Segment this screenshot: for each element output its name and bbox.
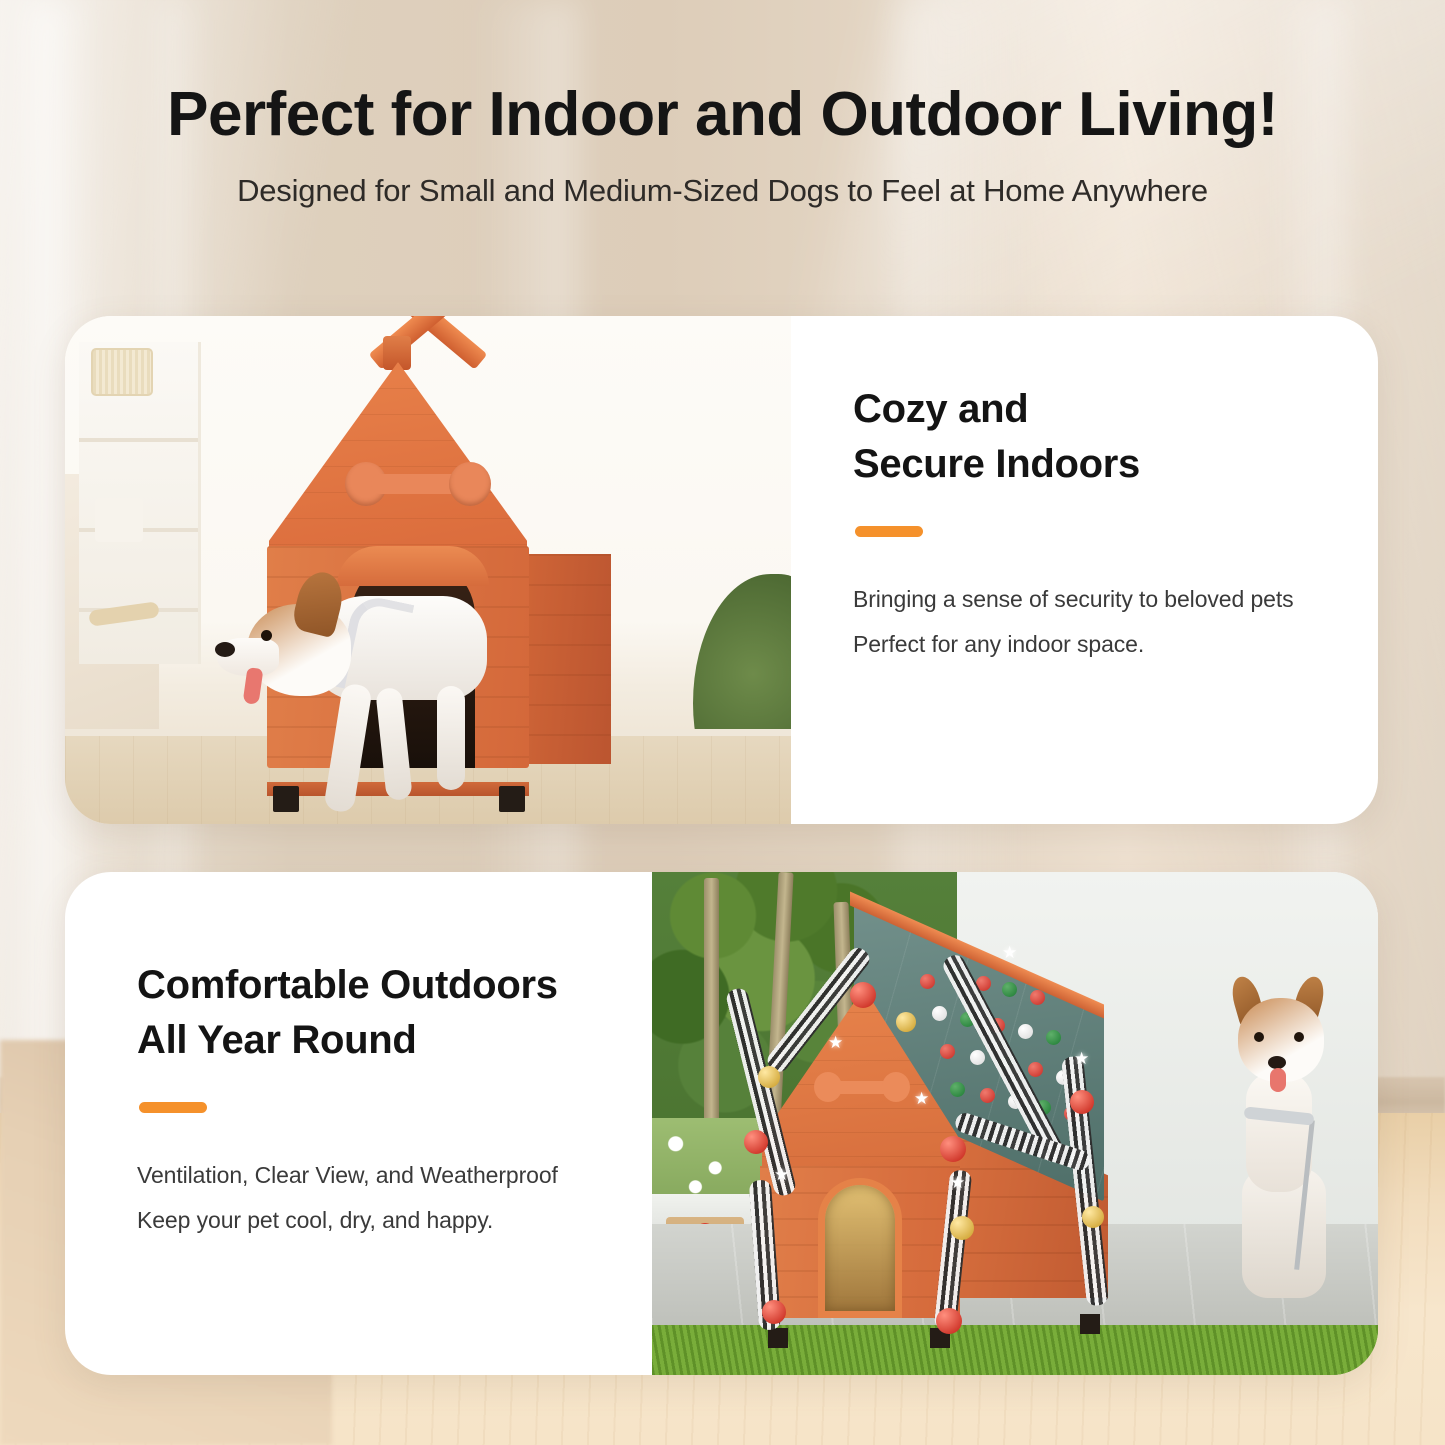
page-subtitle: Designed for Small and Medium-Sized Dogs… bbox=[0, 173, 1445, 209]
feature-card-indoor: Cozy and Secure Indoors Bringing a sense… bbox=[65, 316, 1378, 824]
dog-indoor bbox=[225, 568, 525, 824]
star-decoration: ★ bbox=[774, 1166, 789, 1183]
pompom-decoration bbox=[1002, 982, 1017, 997]
outdoor-heading-line-2: All Year Round bbox=[137, 1013, 612, 1068]
dog-tongue bbox=[243, 667, 264, 705]
outdoor-body-line-2: Keep your pet cool, dry, and happy. bbox=[137, 1198, 612, 1243]
bell-ornament bbox=[744, 1130, 768, 1154]
pompom-decoration bbox=[920, 974, 935, 989]
indoor-body-line-2: Perfect for any indoor space. bbox=[853, 622, 1320, 667]
dog-leg bbox=[323, 682, 373, 813]
dog-outdoor bbox=[1184, 998, 1354, 1298]
dog-eye bbox=[1254, 1032, 1264, 1042]
pompom-decoration bbox=[950, 1082, 965, 1097]
star-decoration: ★ bbox=[914, 1090, 929, 1107]
clear-vinyl-door-flap bbox=[818, 1178, 902, 1318]
bone-plaque-icon bbox=[814, 1072, 910, 1102]
pompom-decoration bbox=[970, 1050, 985, 1065]
shelf-object bbox=[95, 498, 143, 542]
outdoor-body-line-1: Ventilation, Clear View, and Weatherproo… bbox=[137, 1153, 612, 1198]
pompom-decoration bbox=[1046, 1030, 1061, 1045]
dog-leg bbox=[437, 686, 465, 790]
bell-ornament bbox=[850, 982, 876, 1008]
indoor-heading-line-2: Secure Indoors bbox=[853, 437, 1320, 492]
accent-divider bbox=[139, 1102, 207, 1113]
bell-ornament bbox=[936, 1308, 962, 1334]
page-header: Perfect for Indoor and Outdoor Living! D… bbox=[0, 0, 1445, 209]
dog-eye bbox=[1294, 1032, 1304, 1042]
bell-ornament bbox=[1070, 1090, 1094, 1114]
bell-ornament bbox=[940, 1136, 966, 1162]
dog-leg bbox=[375, 687, 413, 801]
pompom-decoration bbox=[980, 1088, 995, 1103]
house-side-panel bbox=[525, 554, 611, 764]
indoor-heading: Cozy and Secure Indoors bbox=[853, 382, 1320, 492]
star-decoration: ★ bbox=[1002, 944, 1017, 961]
indoor-body-text: Bringing a sense of security to beloved … bbox=[853, 577, 1320, 667]
bell-ornament bbox=[758, 1066, 780, 1088]
basket bbox=[91, 348, 153, 396]
outdoor-heading: Comfortable Outdoors All Year Round bbox=[137, 958, 612, 1068]
pompom-decoration bbox=[1028, 1062, 1043, 1077]
indoor-text-block: Cozy and Secure Indoors Bringing a sense… bbox=[791, 316, 1378, 824]
outdoor-dog-house-photo: ★ ★ ★ ★ ★ ★ bbox=[652, 872, 1378, 1375]
indoor-dog-house-photo bbox=[65, 316, 791, 824]
page-title: Perfect for Indoor and Outdoor Living! bbox=[0, 82, 1445, 147]
dog-tongue bbox=[1270, 1068, 1286, 1092]
pompom-decoration bbox=[932, 1006, 947, 1021]
grass bbox=[652, 1325, 1378, 1375]
house-leg bbox=[768, 1328, 788, 1348]
star-decoration: ★ bbox=[950, 1174, 965, 1191]
indoor-heading-line-1: Cozy and bbox=[853, 382, 1320, 437]
pompom-decoration bbox=[940, 1044, 955, 1059]
star-decoration: ★ bbox=[1074, 1050, 1089, 1067]
bell-ornament bbox=[762, 1300, 786, 1324]
bell-ornament bbox=[1082, 1206, 1104, 1228]
pompom-decoration bbox=[1018, 1024, 1033, 1039]
bone-plaque-icon bbox=[345, 462, 491, 506]
dog-house-outdoor: ★ ★ ★ ★ ★ ★ bbox=[744, 930, 1174, 1330]
feature-card-outdoor: Comfortable Outdoors All Year Round Vent… bbox=[65, 872, 1378, 1375]
house-leg bbox=[1080, 1314, 1100, 1334]
dog-nose bbox=[215, 642, 235, 657]
outdoor-heading-line-1: Comfortable Outdoors bbox=[137, 958, 612, 1013]
outdoor-body-text: Ventilation, Clear View, and Weatherproo… bbox=[137, 1153, 612, 1243]
bell-ornament bbox=[896, 1012, 916, 1032]
dog-eye bbox=[261, 630, 272, 641]
accent-divider bbox=[855, 526, 923, 537]
pompom-decoration bbox=[1030, 990, 1045, 1005]
outdoor-text-block: Comfortable Outdoors All Year Round Vent… bbox=[65, 872, 652, 1375]
bell-ornament bbox=[950, 1216, 974, 1240]
star-decoration: ★ bbox=[828, 1034, 843, 1051]
indoor-body-line-1: Bringing a sense of security to beloved … bbox=[853, 577, 1320, 622]
